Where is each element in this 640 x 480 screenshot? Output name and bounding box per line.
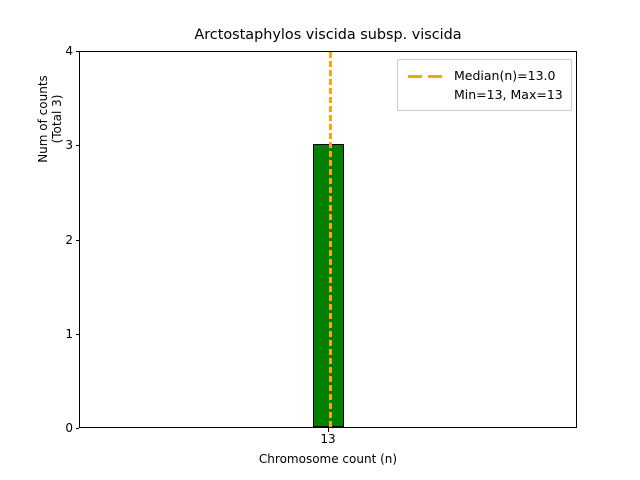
y-axis-label: Num of counts	[36, 0, 50, 239]
legend-entry-median: Median(n)=13.0	[406, 66, 563, 85]
chart-legend[interactable]: Median(n)=13.0 Min=13, Max=13	[397, 59, 572, 111]
legend-entry-minmax: Min=13, Max=13	[406, 85, 563, 104]
y-axis-label-secondary: (Total 3)	[50, 0, 64, 239]
x-axis-label: Chromosome count (n)	[79, 452, 577, 466]
chart-title: Arctostaphylos viscida subsp. viscida	[79, 27, 577, 44]
dashed-line-icon	[406, 70, 446, 82]
matplotlib-figure: Arctostaphylos viscida subsp. viscida 0 …	[0, 0, 640, 480]
median-line	[329, 52, 332, 427]
x-tick-label: 13	[320, 433, 335, 446]
x-axis-tick-marks: 13	[79, 428, 577, 434]
blank-handle-icon	[406, 89, 446, 101]
legend-label: Min=13, Max=13	[454, 87, 563, 102]
y-tick-label: 0	[33, 422, 73, 434]
legend-label: Median(n)=13.0	[454, 68, 555, 83]
x-tick-mark	[328, 428, 329, 432]
y-tick-label: 1	[33, 328, 73, 340]
